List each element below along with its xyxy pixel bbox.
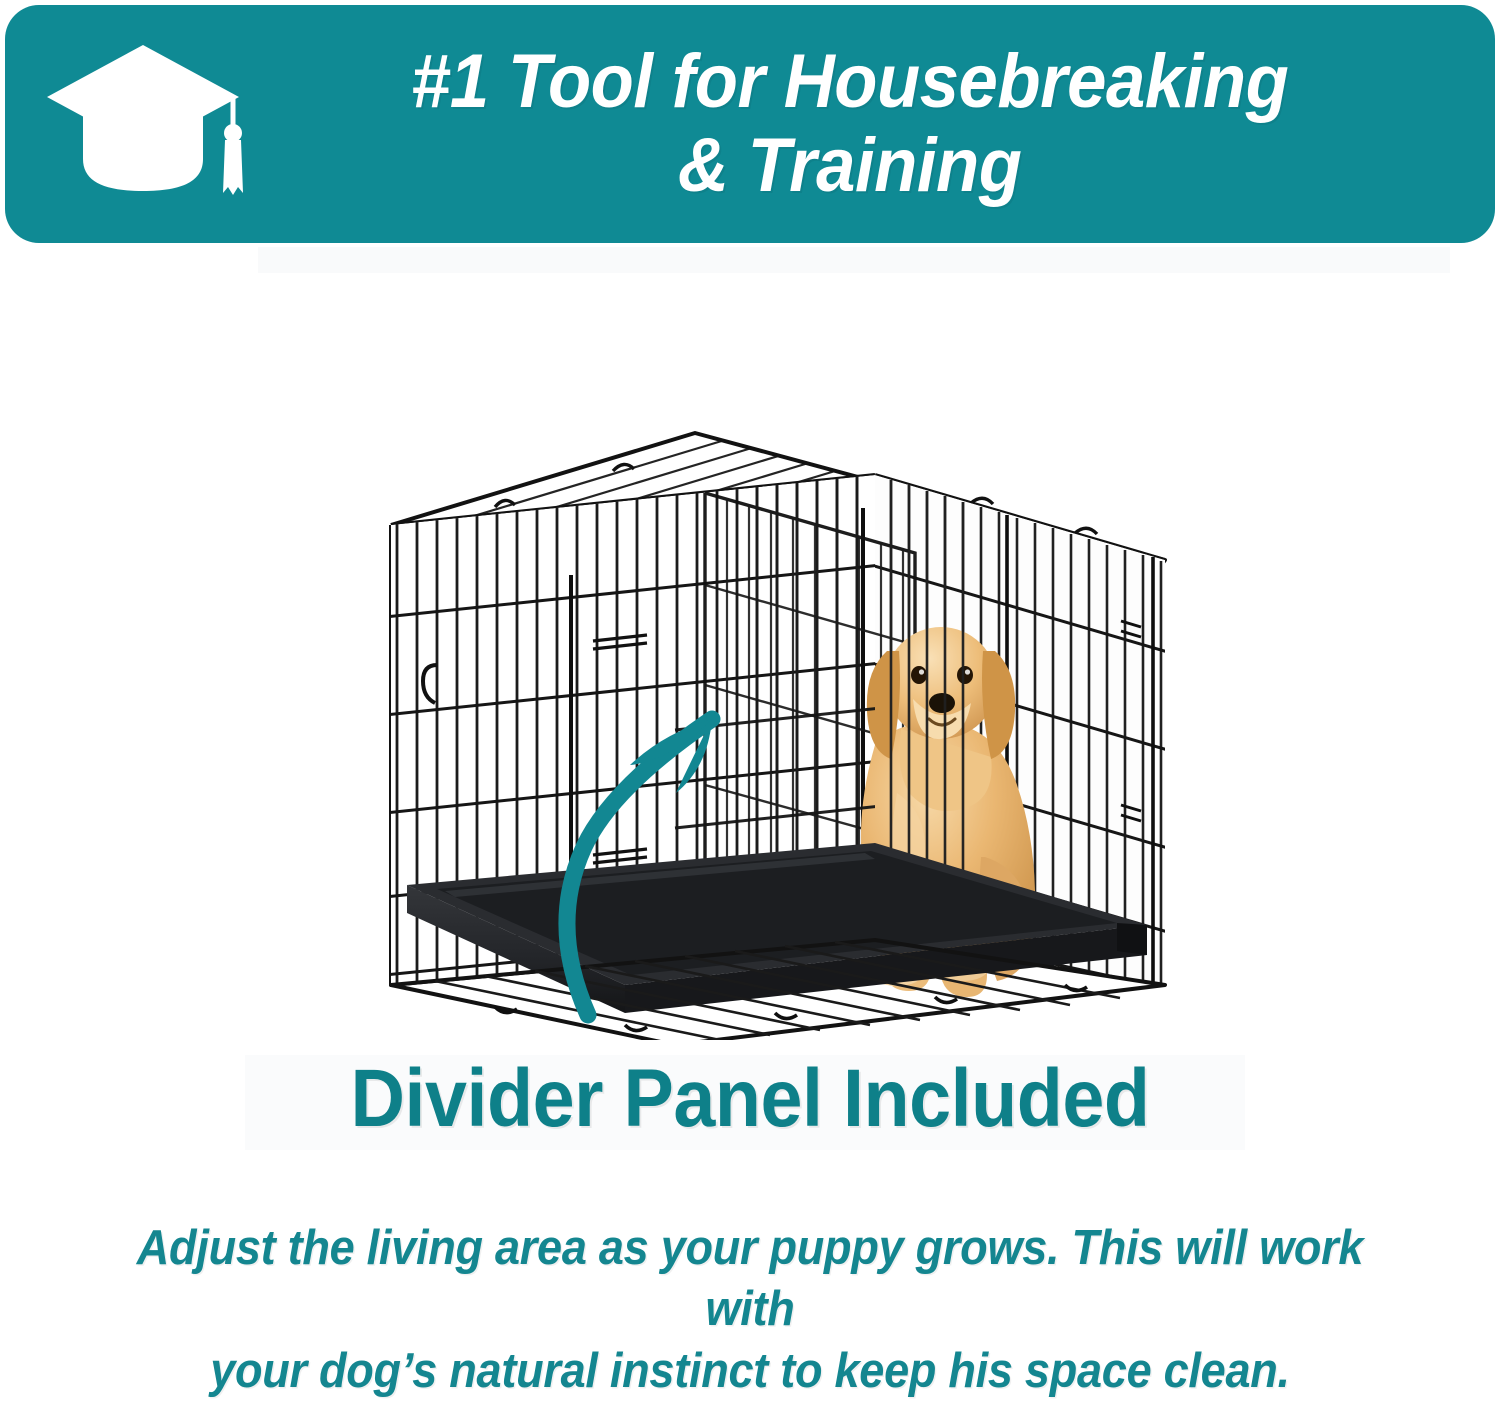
caption-line-1: Adjust the living area as your puppy gro… — [111, 1218, 1390, 1341]
banner-shadow-strip — [258, 247, 1450, 273]
banner-headline: #1 Tool for Housebreaking & Training — [275, 13, 1425, 235]
caption-block: Adjust the living area as your puppy gro… — [111, 1218, 1390, 1402]
banner-headline-line-2: & Training — [678, 127, 1022, 205]
header-banner: #1 Tool for Housebreaking & Training — [5, 5, 1495, 243]
banner-headline-line-1: #1 Tool for Housebreaking — [411, 43, 1288, 121]
product-photo — [0, 280, 1500, 1040]
subheadline: Divider Panel Included — [60, 1058, 1440, 1140]
graduation-cap-icon — [43, 41, 285, 213]
caption-line-2: your dog’s natural instinct to keep his … — [111, 1341, 1390, 1402]
wire-dog-crate-illustration — [0, 280, 1500, 1040]
